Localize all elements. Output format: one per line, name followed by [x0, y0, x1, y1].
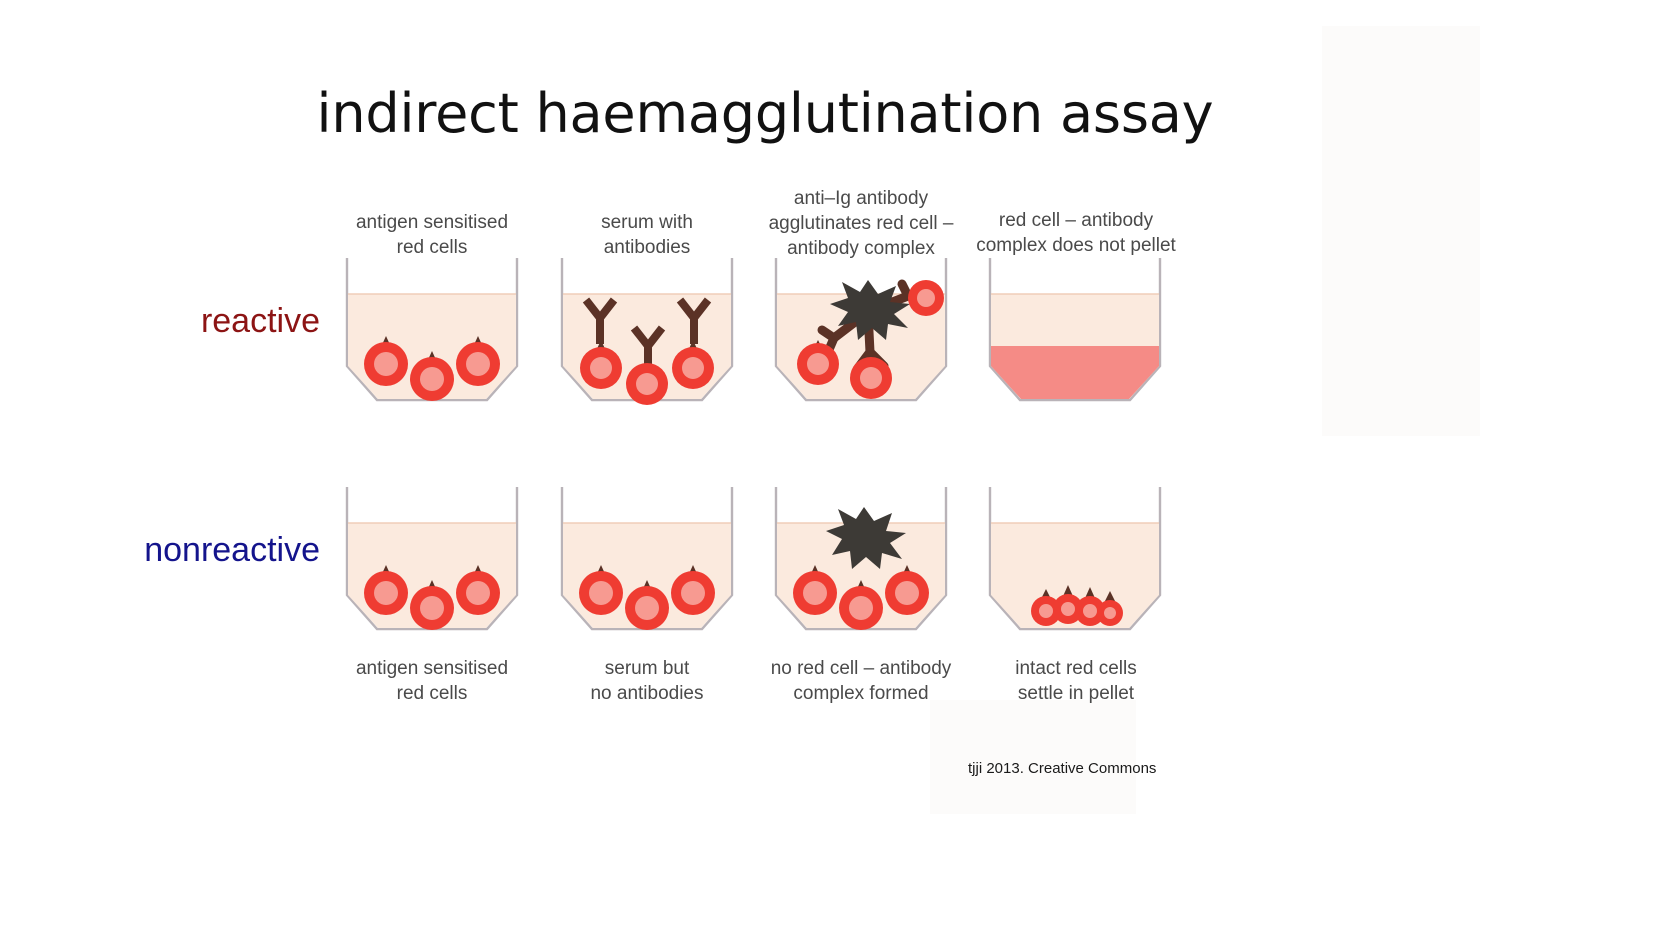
well-nonreactive-1 [343, 485, 521, 633]
diffuse-red-cell-layer [991, 346, 1159, 399]
footer-caption-2: serum but no antibodies [557, 656, 737, 706]
well-reactive-3 [772, 256, 950, 404]
row-label-nonreactive: nonreactive [10, 531, 320, 570]
row-label-reactive: reactive [30, 302, 320, 341]
header-caption-3: anti–Ig antibody agglutinates red cell –… [762, 186, 960, 261]
diagram-canvas: indirect haemagglutination assay reactiv… [0, 0, 1680, 931]
attribution-text: tjji 2013. Creative Commons [968, 760, 1156, 777]
well-nonreactive-4 [986, 485, 1164, 633]
header-caption-4: red cell – antibody complex does not pel… [966, 208, 1186, 258]
footer-caption-4: intact red cells settle in pellet [966, 656, 1186, 706]
header-caption-2: serum with antibodies [557, 210, 737, 260]
footer-caption-1: antigen sensitised red cells [342, 656, 522, 706]
well-reactive-2 [558, 256, 736, 404]
header-caption-1: antigen sensitised red cells [342, 210, 522, 260]
well-nonreactive-3 [772, 485, 950, 633]
well-nonreactive-2 [558, 485, 736, 633]
background-wash-lower [930, 700, 1136, 814]
footer-caption-3: no red cell – antibody complex formed [762, 656, 960, 706]
well-reactive-1 [343, 256, 521, 404]
well-reactive-4 [986, 256, 1164, 404]
page-title: indirect haemagglutination assay [0, 82, 1530, 145]
